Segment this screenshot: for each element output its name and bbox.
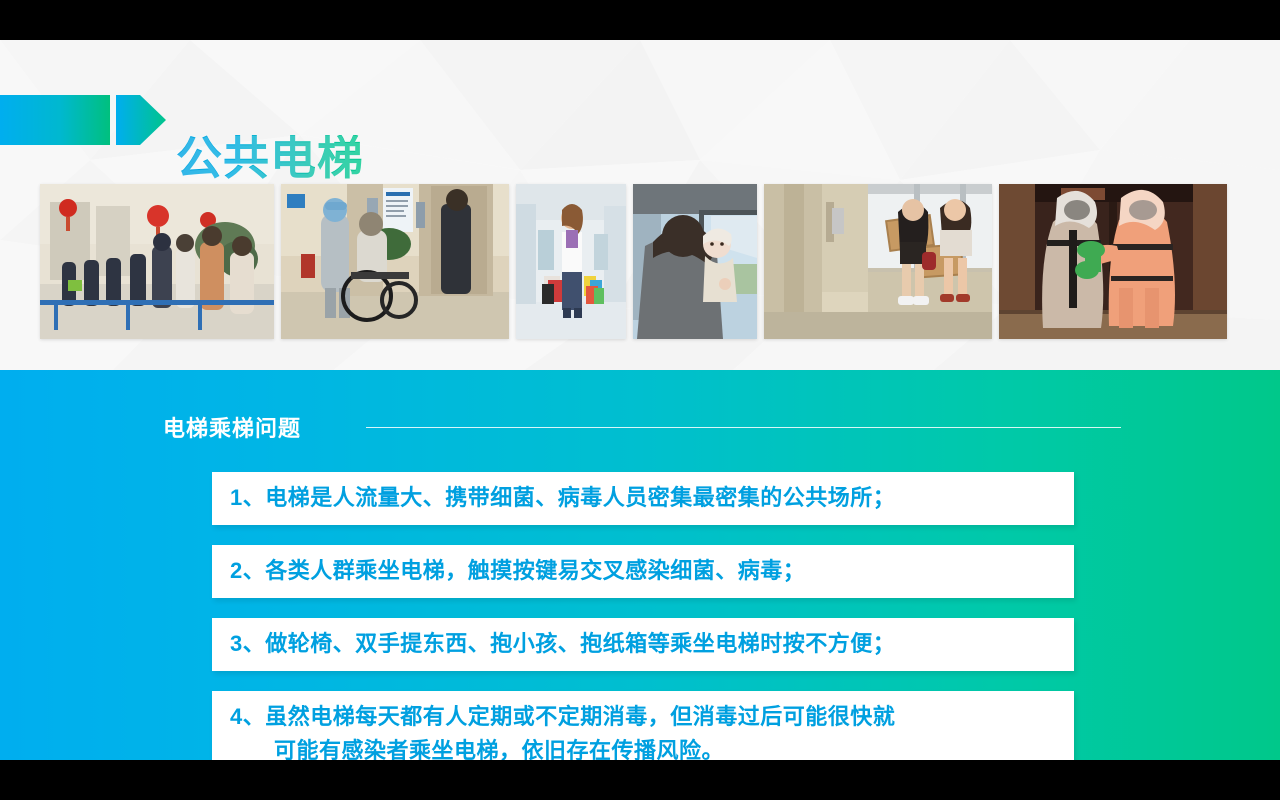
list-item-text-line2: 可能有感染者乘坐电梯，依旧存在传播风险。 [230, 734, 1056, 760]
list-item-text: 2、各类人群乘坐电梯，触摸按键易交叉感染细菌、病毒； [230, 554, 1056, 588]
list-item: 1、电梯是人流量大、携带细菌、病毒人员密集最密集的公共场所； [212, 472, 1074, 525]
letterbox-bottom [0, 760, 1280, 800]
carrying-boxes-photo [764, 184, 992, 339]
page-title: 公共电梯 [176, 135, 364, 181]
slide-canvas: 公共电梯 [0, 40, 1280, 760]
list-item-text: 3、做轮椅、双手提东西、抱小孩、抱纸箱等乘坐电梯时按不方便； [230, 627, 1056, 661]
arrow-chevron-logo-icon [0, 93, 170, 147]
list-item: 2、各类人群乘坐电梯，触摸按键易交叉感染细菌、病毒； [212, 545, 1074, 598]
slide-header: 公共电梯 [0, 85, 1280, 155]
shopping-bags-photo [516, 184, 626, 339]
list-item-text: 1、电梯是人流量大、携带细菌、病毒人员密集最密集的公共场所； [230, 481, 1056, 515]
slide-stage: 公共电梯 [0, 0, 1280, 800]
list-item-text: 4、虽然电梯每天都有人定期或不定期消毒，但消毒过后可能很快就 [230, 700, 1056, 734]
section-header: 电梯乘梯问题 [163, 412, 1163, 442]
hospital-queue-photo [40, 184, 274, 339]
section-title: 电梯乘梯问题 [163, 411, 301, 443]
list-item: 3、做轮椅、双手提东西、抱小孩、抱纸箱等乘坐电梯时按不方便； [212, 618, 1074, 671]
photo-strip [40, 184, 1240, 339]
letterbox-top [0, 0, 1280, 40]
issue-list: 1、电梯是人流量大、携带细菌、病毒人员密集最密集的公共场所； 2、各类人群乘坐电… [212, 472, 1074, 760]
content-panel: 电梯乘梯问题 1、电梯是人流量大、携带细菌、病毒人员密集最密集的公共场所； 2、… [0, 370, 1280, 760]
section-divider [366, 427, 1121, 428]
wheelchair-elevator-photo [281, 184, 509, 339]
carrying-baby-photo [633, 184, 757, 339]
hazmat-suit-photo [999, 184, 1227, 339]
list-item: 4、虽然电梯每天都有人定期或不定期消毒，但消毒过后可能很快就 可能有感染者乘坐电… [212, 691, 1074, 760]
